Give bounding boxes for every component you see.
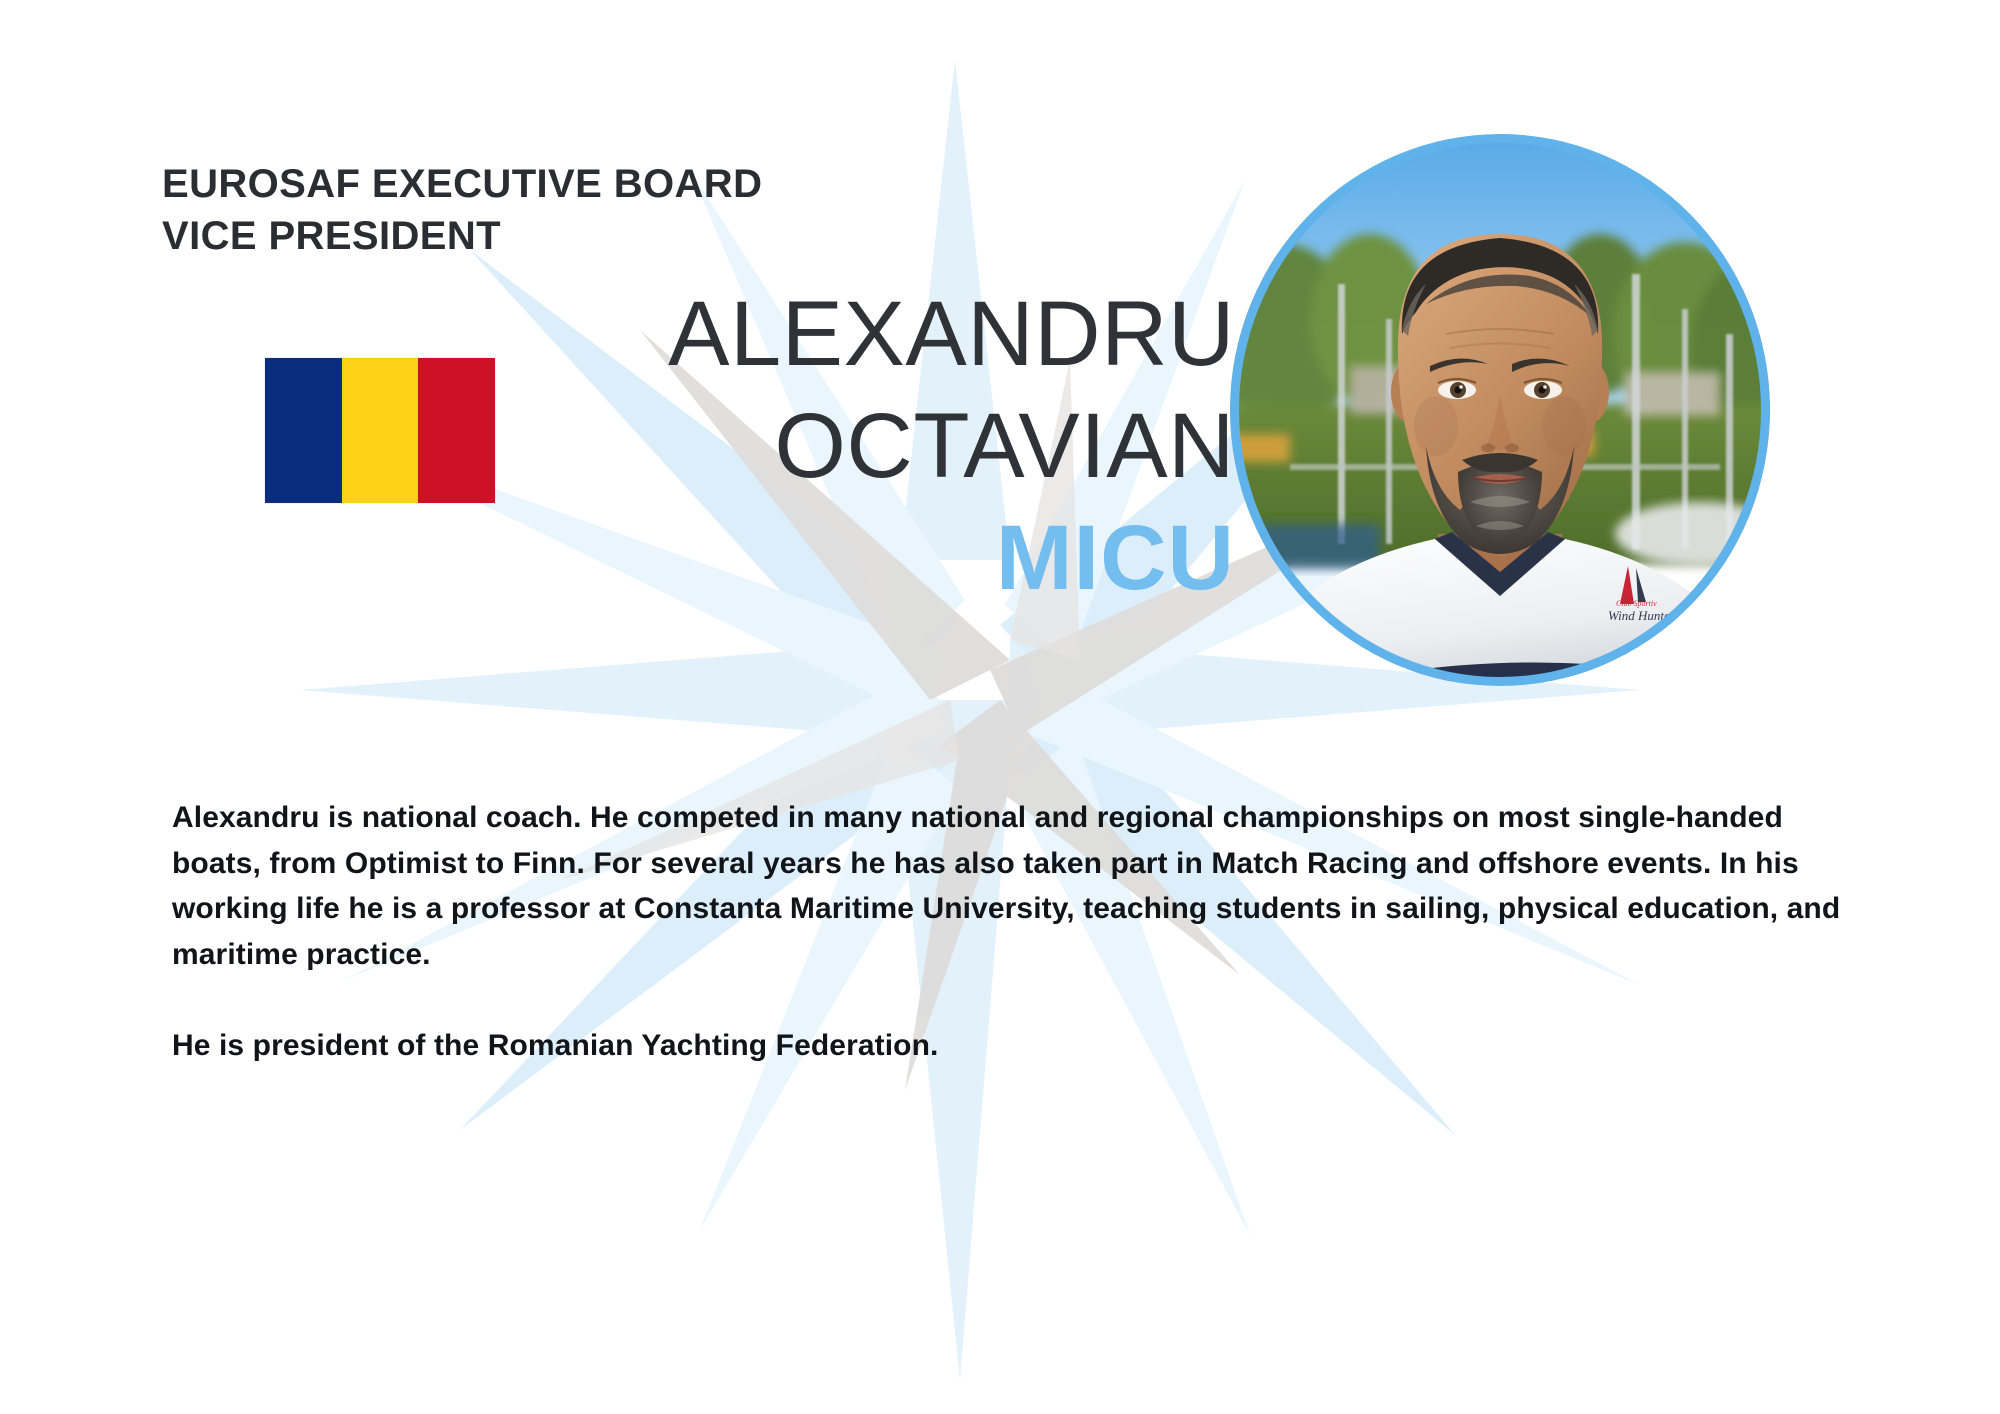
bio-paragraph-1: Alexandru is national coach. He competed… bbox=[172, 795, 1872, 977]
portrait-photo: Wind Hunters Club Sportiv bbox=[1230, 134, 1770, 686]
board-title-line2: VICE PRESIDENT bbox=[162, 210, 762, 262]
svg-text:Wind Hunters: Wind Hunters bbox=[1608, 608, 1680, 623]
slide-canvas: EUROSAF EXECUTIVE BOARD VICE PRESIDENT A… bbox=[0, 0, 2000, 1414]
person-surname: MICU bbox=[300, 502, 1235, 614]
header-block: EUROSAF EXECUTIVE BOARD VICE PRESIDENT bbox=[162, 158, 762, 262]
person-name-block: ALEXANDRU OCTAVIAN MICU bbox=[300, 278, 1235, 615]
person-middle-name: OCTAVIAN bbox=[300, 390, 1235, 502]
bio-paragraph-2: He is president of the Romanian Yachting… bbox=[172, 1023, 1872, 1069]
svg-text:Club Sportiv: Club Sportiv bbox=[1616, 599, 1657, 608]
bio-block: Alexandru is national coach. He competed… bbox=[172, 795, 1872, 1069]
person-first-name: ALEXANDRU bbox=[300, 278, 1235, 390]
portrait-avatar: Wind Hunters Club Sportiv bbox=[1230, 134, 1770, 686]
board-title-line1: EUROSAF EXECUTIVE BOARD bbox=[162, 158, 762, 210]
